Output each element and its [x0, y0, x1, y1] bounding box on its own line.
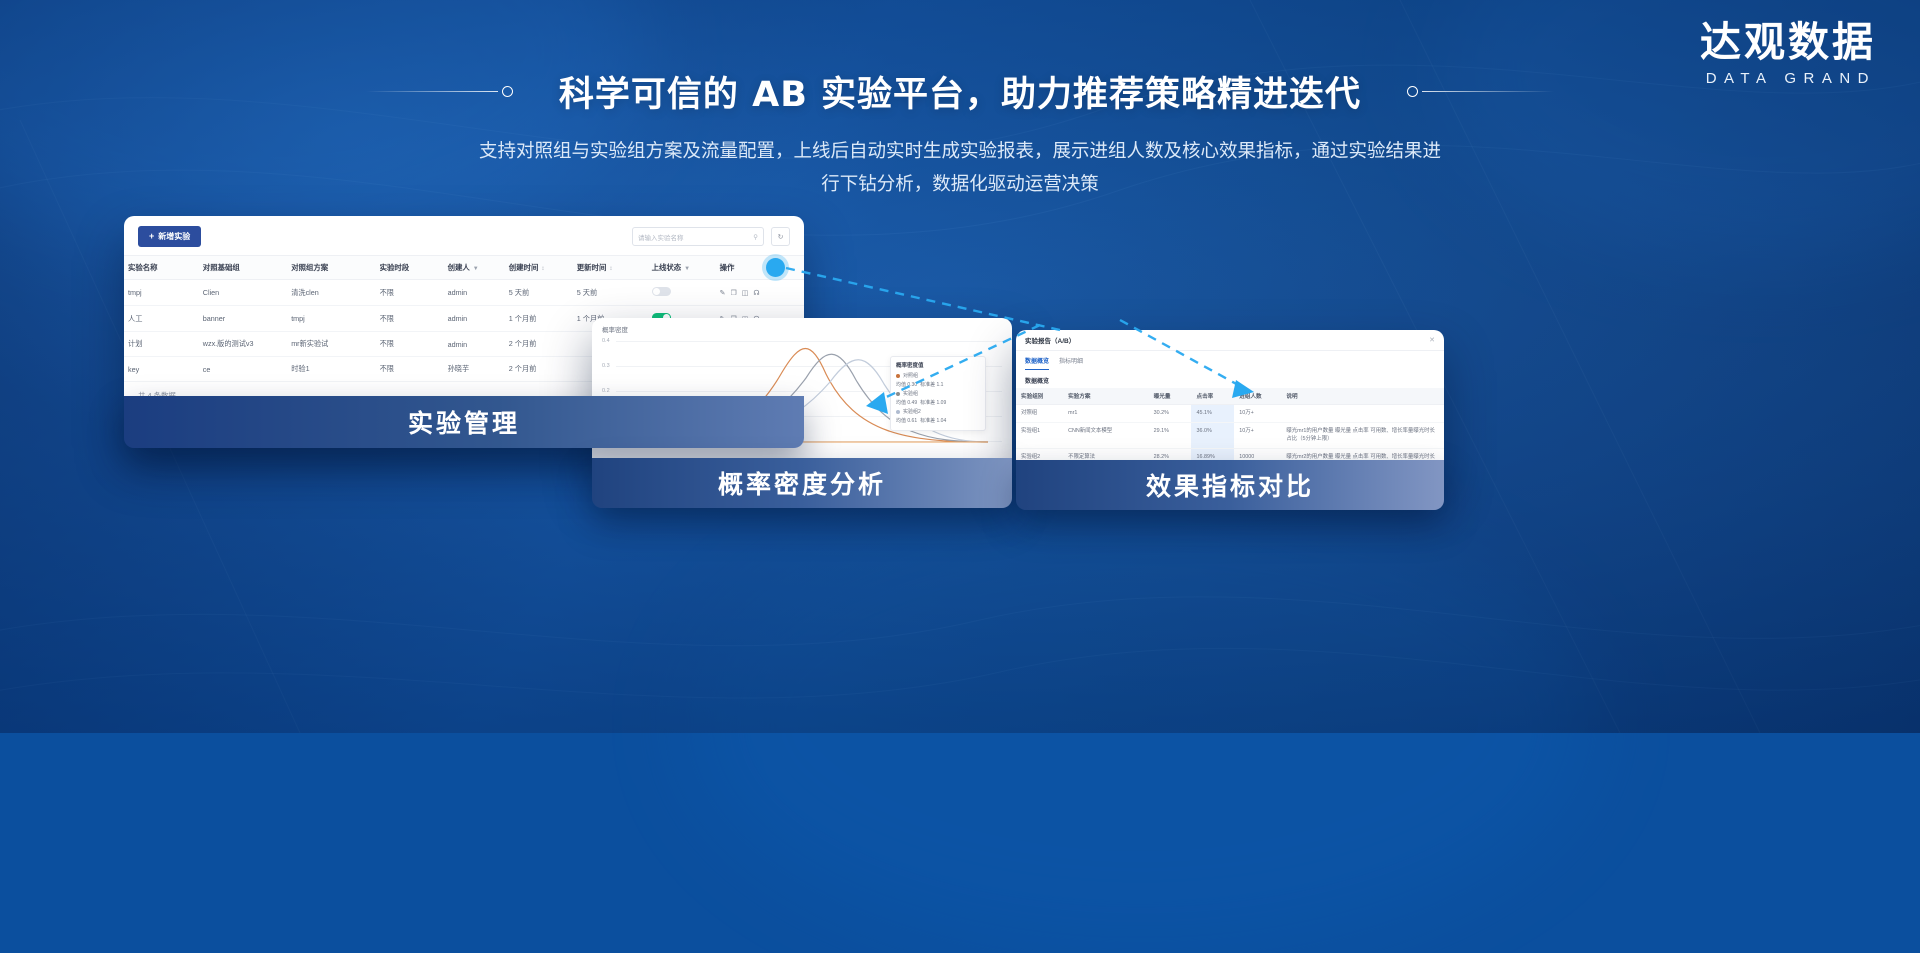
cell-base: Clien — [199, 280, 287, 306]
cell-plan: mr新实验试 — [287, 332, 375, 357]
legend-color-dot — [896, 374, 900, 378]
col-label: 创建人 — [448, 263, 470, 272]
col-updated-time[interactable]: 更新时间↕ — [573, 256, 648, 280]
col-label: 创建时间 — [509, 263, 539, 272]
legend-std: 标准差 1.09 — [920, 399, 946, 406]
legend-entry: 实验组 — [896, 390, 980, 397]
decoration-line-left — [366, 91, 498, 93]
plus-icon: + — [149, 232, 154, 241]
col-label: 操作 — [720, 263, 735, 272]
cell-actions: ✎ ❐ ◫ ☊ — [716, 280, 804, 306]
filter-icon[interactable]: ▼ — [473, 266, 479, 272]
table-header-row: 实验名称 对照基础组 对照组方案 实验时段 创建人▼ 创建时间↕ 更新时间↕ 上… — [124, 256, 804, 280]
tab-detail[interactable]: 指标明细 — [1059, 356, 1083, 370]
caption-experiment-management: 实验管理 — [124, 396, 804, 448]
col-exposure: 曝光量 — [1149, 388, 1192, 405]
cell-plan: 时验1 — [287, 357, 375, 382]
col-plan: 实验方案 — [1063, 388, 1149, 405]
cell-users: 10万+ — [1234, 423, 1281, 449]
page-subtitle: 支持对照组与实验组方案及流量配置，上线后自动实时生成实验报表，展示进组人数及核心… — [0, 135, 1920, 201]
modal-title: 实验报告（A/B） — [1025, 335, 1075, 345]
col-users: 进组人数 — [1234, 388, 1281, 405]
legend-stat: 均值 0.30 标准差 1.1 — [896, 381, 980, 388]
col-label: 对照组方案 — [291, 263, 328, 272]
decoration-line-right — [1422, 91, 1554, 93]
cell-creator: admin — [444, 306, 505, 332]
cell-plan: mr1 — [1063, 405, 1149, 423]
cell-ctr: 36.0% — [1191, 423, 1234, 449]
decoration-dot-left — [502, 86, 513, 97]
section-title: 数据概览 — [1016, 370, 1444, 388]
col-ctr: 点击率 — [1191, 388, 1234, 405]
sort-icon[interactable]: ↕ — [609, 266, 612, 272]
legend-mean: 均值 0.61 — [896, 417, 917, 424]
edit-icon[interactable]: ✎ — [720, 289, 726, 297]
legend-entry: 对照组 — [896, 372, 980, 379]
tab-bar: 数据概览 指标明细 — [1016, 351, 1444, 370]
screenshot-metric-comparison[interactable]: 实验报告（A/B） ✕ 数据概览 指标明细 数据概览 实验组别 实验方案 曝光量… — [1016, 330, 1444, 478]
page-title: 科学可信的 AB 实验平台，助力推荐策略精进迭代 — [559, 66, 1361, 117]
col-control-plan[interactable]: 对照组方案 — [287, 256, 375, 280]
y-tick: 0.4 — [602, 338, 610, 344]
hotspot-dot — [766, 258, 785, 277]
decoration-dot-right — [1407, 86, 1418, 97]
caption-density-analysis: 概率密度分析 — [592, 458, 1012, 508]
cell-period: 不限 — [376, 332, 444, 357]
cell-created: 2 个月前 — [505, 357, 573, 382]
legend-stat: 均值 0.61 标准差 1.04 — [896, 417, 980, 424]
cell-creator: admin — [444, 332, 505, 357]
col-experiment-name[interactable]: 实验名称 — [124, 256, 199, 280]
cell-created: 1 个月前 — [505, 306, 573, 332]
col-label: 更新时间 — [577, 263, 607, 272]
col-label: 上线状态 — [652, 263, 682, 272]
cell-name: tmpj — [124, 280, 199, 306]
subtitle-line-1: 支持对照组与实验组方案及流量配置，上线后自动实时生成实验报表，展示进组人数及核心… — [0, 135, 1920, 168]
y-tick: 0.2 — [602, 388, 610, 394]
toolbar-right: 请输入实验名称 ⚲ ↻ — [632, 227, 790, 246]
add-experiment-button[interactable]: + 新增实验 — [138, 226, 201, 247]
col-experiment-period[interactable]: 实验时段 — [376, 256, 444, 280]
cell-period: 不限 — [376, 357, 444, 382]
legend-title: 概率密度值 — [896, 361, 980, 369]
cell-exposure: 30.2% — [1149, 405, 1192, 423]
cell-base: banner — [199, 306, 287, 332]
cell-users: 10万+ — [1234, 405, 1281, 423]
col-online-status[interactable]: 上线状态▼ — [648, 256, 716, 280]
chart-title: 概率密度 — [592, 318, 1012, 334]
cell-base: wzx.版的测试v3 — [199, 332, 287, 357]
cell-plan: tmpj — [287, 306, 375, 332]
cell-period: 不限 — [376, 280, 444, 306]
table-row[interactable]: 对照组 mr1 30.2% 45.1% 10万+ — [1016, 405, 1444, 423]
search-input[interactable]: 请输入实验名称 ⚲ — [632, 227, 764, 246]
cell-note: 曝光mr1的用户数量 曝光量 点击率 可用数、增长率量曝光时长占比（5分钟上限） — [1281, 423, 1444, 449]
cell-plan: 清洗clen — [287, 280, 375, 306]
caption-metric-comparison: 效果指标对比 — [1016, 460, 1444, 510]
legend-group: 实验组 — [903, 390, 918, 397]
title-row: 科学可信的 AB 实验平台，助力推荐策略精进迭代 — [0, 66, 1920, 117]
title-decoration-left — [366, 86, 513, 97]
copy-icon[interactable]: ❐ — [730, 289, 736, 297]
cell-plan: CNN新闻文本模型 — [1063, 423, 1149, 449]
table-toolbar: + 新增实验 请输入实验名称 ⚲ ↻ — [124, 216, 804, 255]
cell-ctr: 45.1% — [1191, 405, 1234, 423]
cell-note — [1281, 405, 1444, 423]
cell-base: ce — [199, 357, 287, 382]
legend-entry: 实验组2 — [896, 408, 980, 415]
header-block: 科学可信的 AB 实验平台，助力推荐策略精进迭代 支持对照组与实验组方案及流量配… — [0, 66, 1920, 201]
col-note: 说明 — [1281, 388, 1444, 405]
cell-status — [648, 280, 716, 306]
legend-color-dot — [896, 392, 900, 396]
add-experiment-label: 新增实验 — [158, 231, 190, 242]
cell-period: 不限 — [376, 306, 444, 332]
cell-exposure: 29.1% — [1149, 423, 1192, 449]
table-header-row: 实验组别 实验方案 曝光量 点击率 进组人数 说明 — [1016, 388, 1444, 405]
legend-color-dot — [896, 410, 900, 414]
col-label: 对照基础组 — [203, 263, 240, 272]
online-toggle[interactable] — [652, 287, 671, 296]
col-base-group[interactable]: 对照基础组 — [199, 256, 287, 280]
col-label: 实验名称 — [128, 263, 158, 272]
subtitle-line-2: 行下钻分析，数据化驱动运营决策 — [0, 168, 1920, 201]
cell-name: 计划 — [124, 332, 199, 357]
legend-std: 标准差 1.1 — [920, 381, 943, 388]
col-group: 实验组别 — [1016, 388, 1063, 405]
delete-icon[interactable]: ☊ — [753, 289, 759, 297]
legend-stat: 均值 0.49 标准差 1.09 — [896, 399, 980, 406]
tab-overview[interactable]: 数据概览 — [1025, 356, 1049, 370]
cell-created: 5 天前 — [505, 280, 573, 306]
legend-group: 对照组 — [903, 372, 918, 379]
col-label: 实验时段 — [380, 263, 410, 272]
y-tick: 0.3 — [602, 363, 610, 369]
chart-icon[interactable]: ◫ — [742, 289, 749, 297]
cell-group: 对照组 — [1016, 405, 1063, 423]
filter-icon[interactable]: ▼ — [684, 266, 690, 272]
legend-mean: 均值 0.49 — [896, 399, 917, 406]
cell-updated: 5 天前 — [573, 280, 648, 306]
table-row[interactable]: 实验组1 CNN新闻文本模型 29.1% 36.0% 10万+ 曝光mr1的用户… — [1016, 423, 1444, 449]
modal-header: 实验报告（A/B） ✕ — [1016, 330, 1444, 351]
legend-std: 标准差 1.04 — [920, 417, 946, 424]
cell-name: key — [124, 357, 199, 382]
col-created-time[interactable]: 创建时间↕ — [505, 256, 573, 280]
title-decoration-right — [1407, 86, 1554, 97]
brand-logo-cn: 达观数据 — [1700, 22, 1876, 63]
refresh-icon[interactable]: ↻ — [771, 227, 790, 246]
legend-mean: 均值 0.30 — [896, 381, 917, 388]
search-icon[interactable]: ⚲ — [753, 233, 758, 241]
table-row[interactable]: tmpj Clien 清洗clen 不限 admin 5 天前 5 天前 ✎ ❐… — [124, 280, 804, 306]
col-creator[interactable]: 创建人▼ — [444, 256, 505, 280]
close-icon[interactable]: ✕ — [1429, 336, 1435, 344]
sort-icon[interactable]: ↕ — [541, 266, 544, 272]
cell-creator: admin — [444, 280, 505, 306]
col-actions: 操作 — [716, 256, 804, 280]
cell-created: 2 个月前 — [505, 332, 573, 357]
search-placeholder: 请输入实验名称 — [638, 232, 684, 242]
cell-name: 人工 — [124, 306, 199, 332]
chart-legend: 概率密度值 对照组 均值 0.30 标准差 1.1 实验组 均值 0.49 标准… — [890, 356, 986, 431]
cell-group: 实验组1 — [1016, 423, 1063, 449]
cell-creator: 孙晓芋 — [444, 357, 505, 382]
legend-group: 实验组2 — [903, 408, 921, 415]
